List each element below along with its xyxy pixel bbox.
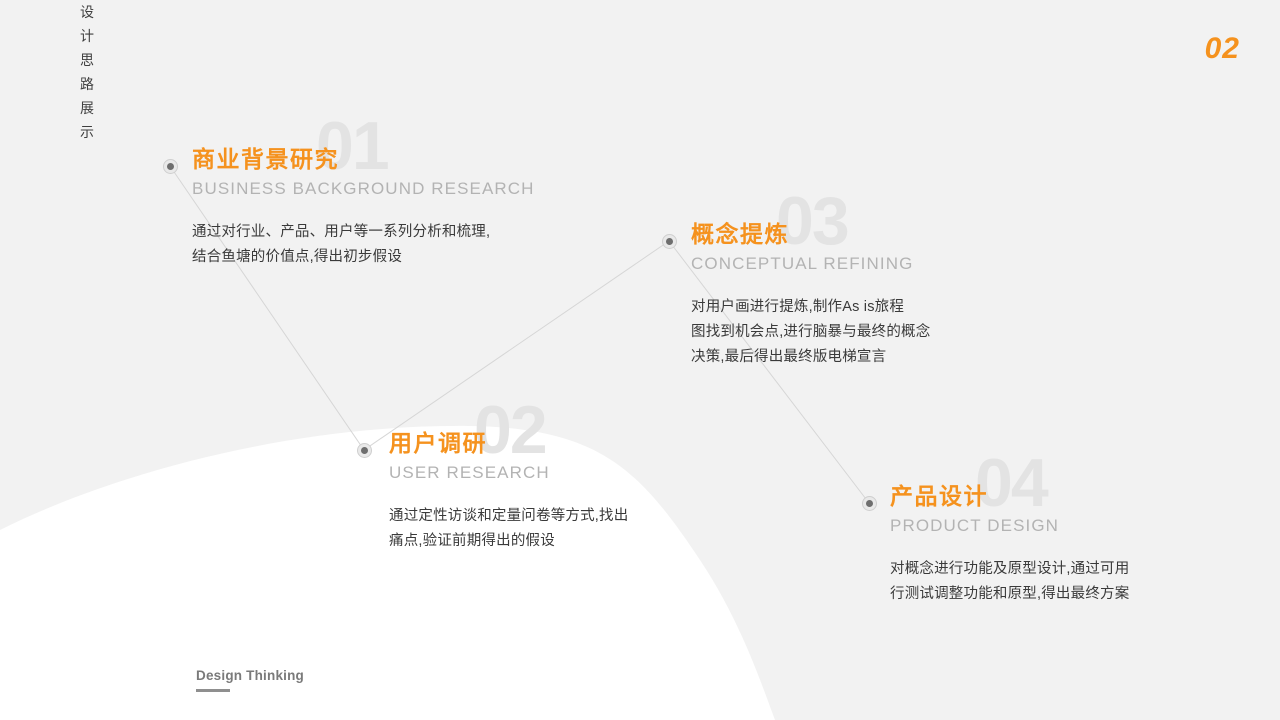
step-description-01: 通过对行业、产品、用户等一系列分析和梳理, 结合鱼塘的价值点,得出初步假设 [192, 220, 612, 270]
step-title-03: 概念提炼 [691, 221, 1121, 247]
vertical-section-title: 设 计 思 路 展 示 [76, 0, 98, 144]
step-subtitle-01: BUSINESS BACKGROUND RESEARCH [192, 179, 612, 198]
step-title-02: 用户调研 [389, 430, 809, 456]
step-description-03: 对用户画进行提炼,制作As is旅程 图找到机会点,进行脑暴与最终的概念 决策,… [691, 295, 1121, 370]
step-marker-icon-02 [357, 443, 372, 458]
step-marker-icon-01 [163, 159, 178, 174]
footer-underline [196, 689, 230, 692]
footer-label: Design Thinking [196, 668, 304, 683]
step-subtitle-04: PRODUCT DESIGN [890, 516, 1280, 535]
step-subtitle-03: CONCEPTUAL REFINING [691, 254, 1121, 273]
step-description-04: 对概念进行功能及原型设计,通过可用 行测试调整功能和原型,得出最终方案 [890, 557, 1280, 607]
vertical-title-char: 思 [76, 48, 98, 72]
slide-canvas: 设 计 思 路 展 示 02 01 商业背景研究 BUSINESS BACKGR… [0, 0, 1280, 720]
step-marker-icon-03 [662, 234, 677, 249]
step-title-01: 商业背景研究 [192, 146, 612, 172]
vertical-title-char: 展 [76, 96, 98, 120]
step-description-02: 通过定性访谈和定量问卷等方式,找出 痛点,验证前期得出的假设 [389, 504, 809, 554]
step-marker-icon-04 [862, 496, 877, 511]
vertical-title-char: 示 [76, 120, 98, 144]
vertical-title-char: 设 [76, 0, 98, 24]
footer: Design Thinking [196, 668, 304, 692]
step-title-04: 产品设计 [890, 483, 1280, 509]
page-number: 02 [1205, 32, 1240, 66]
vertical-title-char: 路 [76, 72, 98, 96]
step-subtitle-02: USER RESEARCH [389, 463, 809, 482]
vertical-title-char: 计 [76, 24, 98, 48]
